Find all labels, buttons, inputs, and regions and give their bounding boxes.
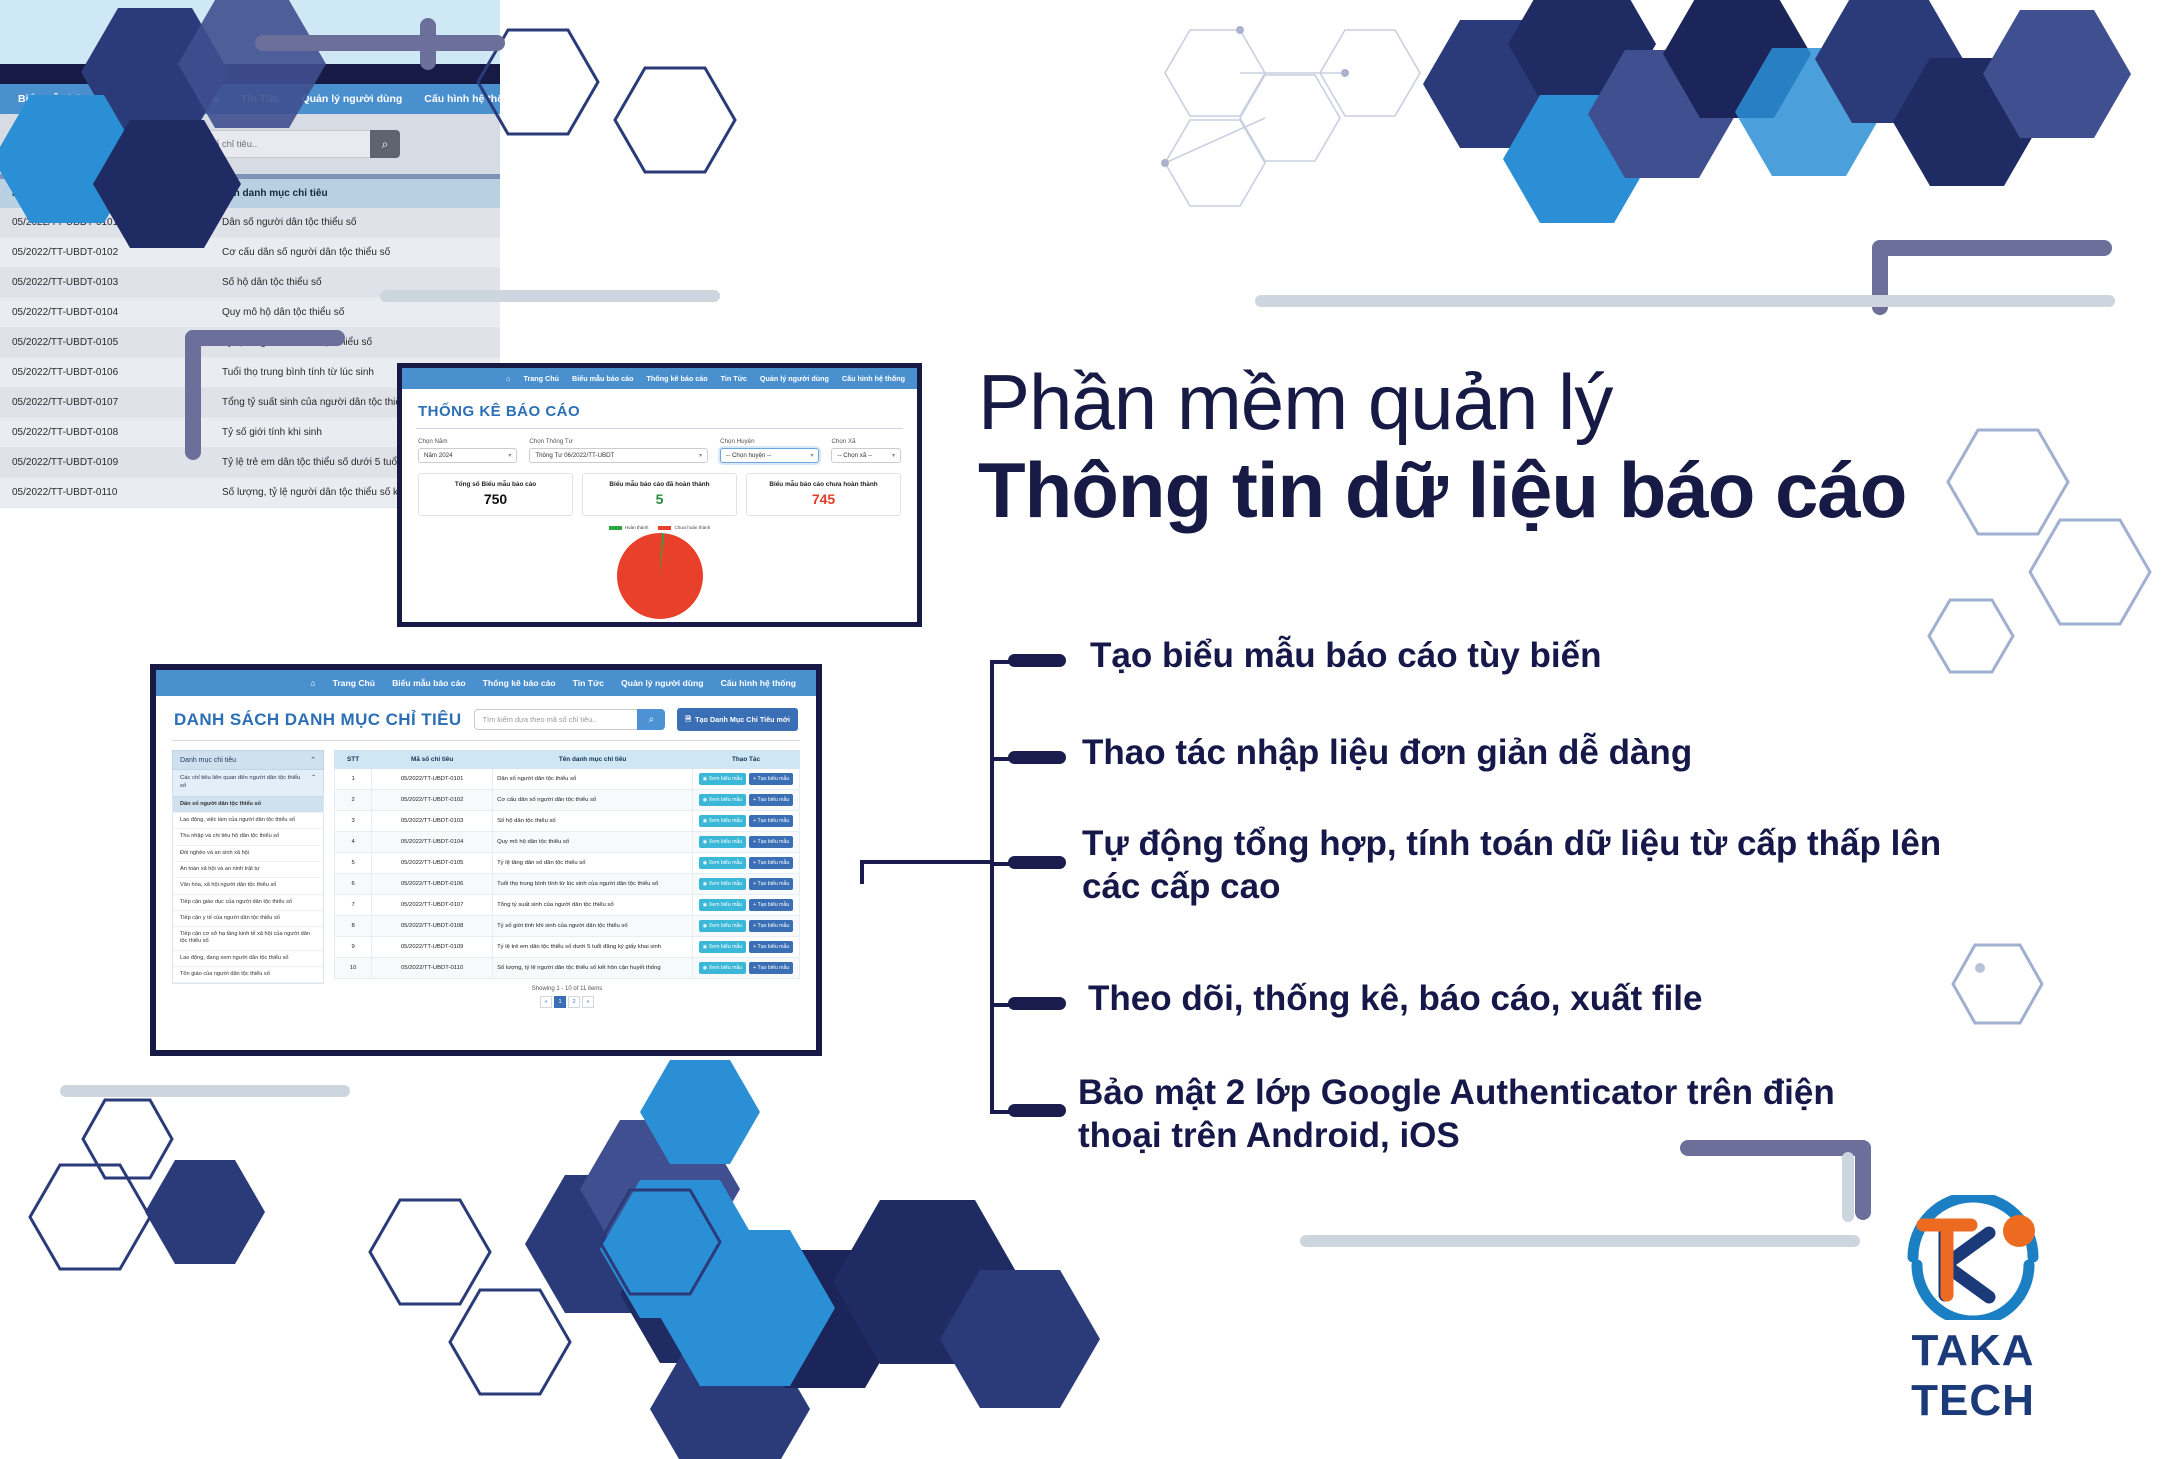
statistics-window-content: ⌂ Trang Chủ Biểu mẫu báo cáo Thống kê bá…: [402, 368, 917, 622]
connector-dash-5: [1008, 1104, 1066, 1117]
cell-code: 05/2022/TT-UBDT-0107: [372, 895, 493, 916]
catalog-sidebar: Danh mục chỉ tiêu ⌃ Các chỉ tiêu liên qu…: [172, 750, 324, 1008]
file-plus-icon: 🗎: [685, 713, 691, 726]
create-template-button[interactable]: + Tạo biểu mẫu: [749, 794, 793, 806]
pie-chart-wrap: [402, 533, 917, 619]
table-row: 405/2022/TT-UBDT-0104Quy mô hộ dân tộc t…: [335, 832, 800, 853]
action-buttons: ◉ Xem biểu mẫu+ Tạo biểu mẫu: [697, 815, 795, 827]
view-template-button[interactable]: ◉ Xem biểu mẫu: [699, 899, 746, 911]
nav-item-bieu-mau[interactable]: Biểu mẫu báo cáo: [18, 93, 108, 105]
connector-dash-4: [1008, 997, 1066, 1010]
pagination-page[interactable]: 1: [554, 996, 566, 1008]
stat-card-pending-value: 745: [751, 491, 896, 507]
create-template-button[interactable]: + Tạo biểu mẫu: [749, 815, 793, 827]
list-item[interactable]: Đói nghèo và an sinh xã hội: [173, 846, 323, 862]
cell-code: 05/2022/TT-UBDT-0109: [0, 448, 210, 478]
list-item[interactable]: Văn hóa, xã hội người dân tộc thiểu số: [173, 878, 323, 894]
table-row: 05/2022/TT-UBDT-0103Số hộ dân tộc thiểu …: [0, 268, 500, 298]
nav-item-quan-ly[interactable]: Quản lý người dùng: [760, 374, 829, 383]
action-buttons: ◉ Xem biểu mẫu+ Tạo biểu mẫu: [697, 962, 795, 974]
cell-code: 05/2022/TT-UBDT-0103: [372, 811, 493, 832]
list-item[interactable]: Tiếp cận y tế của người dân tộc thiểu số: [173, 911, 323, 927]
nav-item-tin-tuc[interactable]: Tin Tức: [573, 678, 604, 688]
cell-name: Dân số người dân tộc thiểu số: [493, 769, 693, 790]
cell-stt: 9: [335, 937, 372, 958]
list-item[interactable]: Tiếp cận cơ sở hạ tầng kinh tế xã hội củ…: [173, 927, 323, 951]
nav-item-tin-tuc[interactable]: Tin Tức: [241, 93, 279, 105]
filter-nam-select[interactable]: Năm 2024 ▾: [418, 448, 517, 463]
catalog-table-body: 105/2022/TT-UBDT-0101Dân số người dân tộ…: [335, 769, 800, 979]
catalog-table-col: STT Mã số chỉ tiêu Tên danh mục chỉ tiêu…: [334, 750, 800, 1008]
cell-stt: 2: [335, 790, 372, 811]
table-row: 805/2022/TT-UBDT-0108Tỷ số giới tính khi…: [335, 916, 800, 937]
cell-code: 05/2022/TT-UBDT-0101: [372, 769, 493, 790]
list-item[interactable]: Lao động, việc làm của người dân tộc thi…: [173, 813, 323, 829]
filter-thong-tu-value: Thông Tư 06/2022/TT-UBDT: [535, 452, 614, 459]
table-row: 105/2022/TT-UBDT-0101Dân số người dân tộ…: [335, 769, 800, 790]
pipe-right-vert: [1872, 240, 1888, 315]
home-icon[interactable]: ⌂: [310, 678, 315, 688]
sidebar-header-label: Danh mục chỉ tiêu: [180, 757, 236, 764]
cell-code: 05/2022/TT-UBDT-0103: [0, 268, 210, 298]
view-template-button[interactable]: ◉ Xem biểu mẫu: [699, 815, 746, 827]
connector-dash-1: [1008, 654, 1066, 667]
cell-name: Tỷ lệ tăng dân số dân tộc thiểu số: [493, 853, 693, 874]
action-buttons: ◉ Xem biểu mẫu+ Tạo biểu mẫu: [697, 794, 795, 806]
cell-name: Quy mô hộ dân tộc thiểu số: [493, 832, 693, 853]
filter-huyen-value: -- Chọn huyện --: [726, 452, 771, 459]
table-row: 305/2022/TT-UBDT-0103Số hộ dân tộc thiểu…: [335, 811, 800, 832]
catalog-body: Danh mục chỉ tiêu ⌃ Các chỉ tiêu liên qu…: [156, 741, 816, 1008]
filter-thong-tu: Chọn Thông Tư Thông Tư 06/2022/TT-UBDT ▾: [529, 438, 708, 463]
background-search-area: Tìm kiếm dựa theo mã số chỉ tiêu.. ⌕: [0, 114, 500, 174]
cell-actions: ◉ Xem biểu mẫu+ Tạo biểu mẫu: [693, 769, 800, 790]
table-row: 05/2022/TT-UBDT-0104Quy mô hộ dân tộc th…: [0, 298, 500, 328]
background-search[interactable]: Tìm kiếm dựa theo mã số chỉ tiêu.. ⌕: [100, 130, 400, 158]
page-headline: Phần mềm quản lý Thông tin dữ liệu báo c…: [978, 358, 2098, 534]
view-template-button[interactable]: ◉ Xem biểu mẫu: [699, 794, 746, 806]
cell-actions: ◉ Xem biểu mẫu+ Tạo biểu mẫu: [693, 832, 800, 853]
cell-code: 05/2022/TT-UBDT-0101: [0, 208, 210, 238]
logo-mark: [1893, 1195, 2053, 1320]
create-template-button[interactable]: + Tạo biểu mẫu: [749, 899, 793, 911]
feature-item-2: Thao tác nhập liệu đơn giản dễ dàng: [1082, 732, 1982, 775]
list-item[interactable]: Thu nhập và chi tiêu hộ dân tộc thiểu số: [173, 829, 323, 845]
table-row: 505/2022/TT-UBDT-0105Tỷ lệ tăng dân số d…: [335, 853, 800, 874]
catalog-browser-window: ⌂ Trang Chủ Biểu mẫu báo cáo Thống kê bá…: [150, 664, 822, 1056]
cell-stt: 3: [335, 811, 372, 832]
col-ten-danh-muc: Tên danh mục chỉ tiêu: [210, 179, 500, 208]
view-template-button[interactable]: ◉ Xem biểu mẫu: [699, 773, 746, 785]
statistics-browser-window: ⌂ Trang Chủ Biểu mẫu báo cáo Thống kê bá…: [397, 363, 922, 627]
stat-card-total-value: 750: [423, 491, 568, 507]
nav-item-bieu-mau[interactable]: Biểu mẫu báo cáo: [392, 678, 466, 688]
view-template-button[interactable]: ◉ Xem biểu mẫu: [699, 878, 746, 890]
cell-stt: 10: [335, 958, 372, 979]
action-buttons: ◉ Xem biểu mẫu+ Tạo biểu mẫu: [697, 836, 795, 848]
view-template-button[interactable]: ◉ Xem biểu mẫu: [699, 920, 746, 932]
nav-item-thong-ke[interactable]: Thống kê báo cáo: [647, 374, 708, 383]
background-navbar[interactable]: Biểu mẫu báo cáo Thống kê báo cáo Tin Tứ…: [0, 84, 500, 114]
headline-line-2: Thông tin dữ liệu báo cáo: [978, 446, 2098, 534]
catalog-header: DANH SÁCH DANH MỤC CHỈ TIÊU Tìm kiếm dựa…: [156, 696, 816, 731]
cell-code: 05/2022/TT-UBDT-0105: [372, 853, 493, 874]
cell-name: Tỷ số giới tính khi sinh của người dân t…: [493, 916, 693, 937]
filter-xa: Chọn Xã -- Chọn xã -- ▾: [831, 438, 901, 463]
feature-item-5: Bảo mật 2 lớp Google Authenticator trên …: [1078, 1072, 1878, 1157]
legend-swatch-done: [609, 526, 622, 530]
home-icon[interactable]: ⌂: [506, 374, 510, 383]
table-row: 905/2022/TT-UBDT-0109Tỷ lệ trẻ em dân tộ…: [335, 937, 800, 958]
col-ten: Tên danh mục chỉ tiêu: [493, 751, 693, 769]
pagination-info: Showing 1 - 10 of 11 items: [334, 986, 800, 992]
list-item[interactable]: Dân số người dân tộc thiểu số: [173, 797, 323, 813]
nav-item-cau-hinh[interactable]: Cấu hình hệ thống: [424, 93, 516, 105]
background-search-input[interactable]: Tìm kiếm dựa theo mã số chỉ tiêu..: [100, 130, 370, 158]
cell-code: 05/2022/TT-UBDT-0104: [372, 832, 493, 853]
nav-item-cau-hinh[interactable]: Cấu hình hệ thống: [721, 678, 796, 688]
pagination-pages[interactable]: «12»: [540, 996, 594, 1008]
filter-huyen-label: Chọn Huyện: [720, 438, 819, 445]
filter-nam-label: Chọn Năm: [418, 438, 517, 445]
cell-actions: ◉ Xem biểu mẫu+ Tạo biểu mẫu: [693, 853, 800, 874]
view-template-button[interactable]: ◉ Xem biểu mẫu: [699, 962, 746, 974]
cell-name: Tuổi thọ trung bình tính từ lúc sinh của…: [493, 874, 693, 895]
catalog-window-content: ⌂ Trang Chủ Biểu mẫu báo cáo Thống kê bá…: [156, 670, 816, 1050]
filter-xa-value: -- Chọn xã --: [837, 452, 872, 459]
list-item[interactable]: Tôn giáo của người dân tộc thiểu số: [173, 967, 323, 983]
stat-card-done-label: Biểu mẫu báo cáo đã hoàn thành: [587, 481, 732, 488]
pipe-light-4: [60, 1085, 350, 1097]
page-title: THỐNG KÊ BÁO CÁO: [418, 403, 917, 420]
chevron-down-icon: ▾: [810, 452, 813, 459]
cell-code: 05/2022/TT-UBDT-0109: [372, 937, 493, 958]
cell-stt: 1: [335, 769, 372, 790]
cell-code: 05/2022/TT-UBDT-0110: [0, 478, 210, 508]
chevron-up-icon[interactable]: ⌃: [310, 756, 316, 764]
cell-name: Tỷ lệ tăng dân số dân tộc thiểu số: [210, 328, 500, 358]
action-buttons: ◉ Xem biểu mẫu+ Tạo biểu mẫu: [697, 878, 795, 890]
connector-left-stub-vert: [860, 860, 864, 884]
cell-stt: 5: [335, 853, 372, 874]
sidebar-item-list: Dân số người dân tộc thiểu sốLao động, v…: [172, 797, 324, 984]
nav-item-cau-hinh[interactable]: Cấu hình hệ thống: [842, 374, 905, 383]
nav-item-tin-tuc[interactable]: Tin Tức: [721, 374, 747, 383]
create-template-button[interactable]: + Tạo biểu mẫu: [749, 962, 793, 974]
table-row: 1005/2022/TT-UBDT-0110Số lượng, tỷ lệ ng…: [335, 958, 800, 979]
filter-nam-value: Năm 2024: [424, 452, 453, 459]
catalog-navbar[interactable]: ⌂ Trang Chủ Biểu mẫu báo cáo Thống kê bá…: [156, 670, 816, 696]
col-ma-so: Mã số chỉ tiêu: [372, 751, 493, 769]
cell-code: 05/2022/TT-UBDT-0108: [372, 916, 493, 937]
cell-stt: 6: [335, 874, 372, 895]
col-thao-tac: Thao Tác: [693, 751, 800, 769]
feature-item-1: Tạo biểu mẫu báo cáo tùy biến: [1090, 635, 1990, 678]
headline-line-1: Phần mềm quản lý: [978, 358, 1612, 446]
table-row: 05/2022/TT-UBDT-0105Tỷ lệ tăng dân số dâ…: [0, 328, 500, 358]
create-template-button[interactable]: + Tạo biểu mẫu: [749, 773, 793, 785]
taka-tech-logo-icon: [1893, 1195, 2053, 1320]
col-ma-so: Mã số chỉ tiêu: [0, 179, 210, 208]
list-item[interactable]: Lao động, đang xem người dân tộc thiểu s…: [173, 951, 323, 967]
filter-thong-tu-select[interactable]: Thông Tư 06/2022/TT-UBDT ▾: [529, 448, 708, 463]
pipe-light-3: [1300, 1235, 1860, 1247]
create-template-button[interactable]: + Tạo biểu mẫu: [749, 878, 793, 890]
chevron-up-icon[interactable]: ⌃: [311, 775, 316, 791]
action-buttons: ◉ Xem biểu mẫu+ Tạo biểu mẫu: [697, 920, 795, 932]
action-buttons: ◉ Xem biểu mẫu+ Tạo biểu mẫu: [697, 857, 795, 869]
hex-cluster-top-right: [1161, 0, 2131, 223]
col-stt: STT: [335, 751, 372, 769]
filter-thong-tu-label: Chọn Thông Tư: [529, 438, 708, 445]
catalog-table: STT Mã số chỉ tiêu Tên danh mục chỉ tiêu…: [334, 750, 800, 979]
connector-dash-2: [1008, 751, 1066, 764]
list-item[interactable]: An toàn xã hội và an ninh trật tự: [173, 862, 323, 878]
background-window-titlebar: [0, 64, 500, 84]
cell-name: Tổng tỷ suất sinh của người dân tộc thiể…: [493, 895, 693, 916]
nav-item-quan-ly[interactable]: Quản lý người dùng: [621, 678, 704, 688]
pagination-page[interactable]: »: [582, 996, 594, 1008]
connector-dash-3: [1008, 856, 1066, 869]
cell-name: Số hộ dân tộc thiểu số: [493, 811, 693, 832]
cell-code: 05/2022/TT-UBDT-0110: [372, 958, 493, 979]
filter-xa-label: Chọn Xã: [831, 438, 901, 445]
cell-name: Dân số người dân tộc thiểu số: [210, 208, 500, 238]
table-row: 705/2022/TT-UBDT-0107Tổng tỷ suất sinh c…: [335, 895, 800, 916]
create-template-button[interactable]: + Tạo biểu mẫu: [749, 920, 793, 932]
create-template-button[interactable]: + Tạo biểu mẫu: [749, 857, 793, 869]
legend-label-pending: Chưa hoàn thành: [674, 525, 710, 530]
cell-name: Tỷ lệ trẻ em dân tộc thiểu số dưới 5 tuổ…: [493, 937, 693, 958]
stat-card-pending: Biểu mẫu báo cáo chưa hoàn thành 745: [746, 473, 901, 516]
pagination: Showing 1 - 10 of 11 items «12»: [334, 986, 800, 1008]
action-buttons: ◉ Xem biểu mẫu+ Tạo biểu mẫu: [697, 899, 795, 911]
list-item[interactable]: Tiếp cận giáo dục của người dân tộc thiể…: [173, 895, 323, 911]
sidebar-group[interactable]: Các chỉ tiêu liên quan đến người dân tộc…: [172, 770, 324, 797]
connector-left-stub: [860, 860, 994, 864]
catalog-table-header: STT Mã số chỉ tiêu Tên danh mục chỉ tiêu…: [335, 751, 800, 769]
legend-swatch-pending: [658, 526, 671, 530]
cell-code: 05/2022/TT-UBDT-0102: [0, 238, 210, 268]
chevron-down-icon: ▾: [699, 452, 702, 459]
cell-actions: ◉ Xem biểu mẫu+ Tạo biểu mẫu: [693, 937, 800, 958]
stat-cards-row: Tổng số Biểu mẫu báo cáo 750 Biểu mẫu bá…: [402, 463, 917, 516]
filter-huyen: Chọn Huyện -- Chọn huyện -- ▾: [720, 438, 819, 463]
pipe-right-horz: [1872, 240, 2112, 256]
stat-card-pending-label: Biểu mẫu báo cáo chưa hoàn thành: [751, 481, 896, 488]
pie-chart: [617, 533, 703, 619]
nav-item-trang-chu[interactable]: Trang Chủ: [523, 374, 559, 383]
filter-huyen-select[interactable]: -- Chọn huyện -- ▾: [720, 448, 819, 463]
cell-actions: ◉ Xem biểu mẫu+ Tạo biểu mẫu: [693, 895, 800, 916]
cell-code: 05/2022/TT-UBDT-0107: [0, 388, 210, 418]
chevron-down-icon: ▾: [892, 452, 895, 459]
background-table-header: Mã số chỉ tiêu Tên danh mục chỉ tiêu: [0, 179, 500, 208]
chevron-down-icon: ▾: [508, 452, 511, 459]
cell-name: Số hộ dân tộc thiểu số: [210, 268, 500, 298]
nav-item-thong-ke[interactable]: Thống kê báo cáo: [130, 93, 219, 105]
cell-actions: ◉ Xem biểu mẫu+ Tạo biểu mẫu: [693, 916, 800, 937]
cell-name: Quy mô hộ dân tộc thiểu số: [210, 298, 500, 328]
table-row: 205/2022/TT-UBDT-0102Cơ cấu dân số người…: [335, 790, 800, 811]
table-row: 05/2022/TT-UBDT-0102Cơ cấu dân số người …: [0, 238, 500, 268]
filter-row: Chọn Năm Năm 2024 ▾ Chọn Thông Tư Thông …: [402, 429, 917, 463]
pipe-light-2: [1255, 295, 2115, 307]
cell-stt: 4: [335, 832, 372, 853]
legend-label-done: Hoàn thành: [625, 525, 649, 530]
stat-card-done-value: 5: [587, 491, 732, 507]
nav-item-thong-ke[interactable]: Thống kê báo cáo: [483, 678, 556, 688]
cell-actions: ◉ Xem biểu mẫu+ Tạo biểu mẫu: [693, 958, 800, 979]
cell-code: 05/2022/TT-UBDT-0105: [0, 328, 210, 358]
chart-legend: Hoàn thành Chưa hoàn thành: [402, 525, 917, 530]
legend-item-pending: Chưa hoàn thành: [658, 525, 710, 530]
nav-item-quan-ly[interactable]: Quản lý người dùng: [301, 93, 402, 105]
sidebar-header[interactable]: Danh mục chỉ tiêu ⌃: [172, 750, 324, 770]
cell-actions: ◉ Xem biểu mẫu+ Tạo biểu mẫu: [693, 874, 800, 895]
cell-code: 05/2022/TT-UBDT-0104: [0, 298, 210, 328]
stat-card-done: Biểu mẫu báo cáo đã hoàn thành 5: [582, 473, 737, 516]
search-icon[interactable]: ⌕: [637, 709, 665, 730]
search-icon[interactable]: ⌕: [370, 130, 400, 158]
catalog-search[interactable]: Tìm kiếm dựa theo mã số chỉ tiêu.. ⌕: [474, 709, 666, 730]
table-row: 605/2022/TT-UBDT-0106Tuổi thọ trung bình…: [335, 874, 800, 895]
cell-code: 05/2022/TT-UBDT-0106: [372, 874, 493, 895]
view-template-button[interactable]: ◉ Xem biểu mẫu: [699, 857, 746, 869]
background-window-topband: [0, 0, 500, 64]
cell-name: Cơ cấu dân số người dân tộc thiểu số: [493, 790, 693, 811]
pagination-page[interactable]: 2: [568, 996, 580, 1008]
create-template-button[interactable]: + Tạo biểu mẫu: [749, 836, 793, 848]
filter-xa-select[interactable]: -- Chọn xã -- ▾: [831, 448, 901, 463]
cell-stt: 7: [335, 895, 372, 916]
action-buttons: ◉ Xem biểu mẫu+ Tạo biểu mẫu: [697, 941, 795, 953]
cell-name: Số lượng, tỷ lệ người dân tộc thiểu số k…: [493, 958, 693, 979]
legend-item-done: Hoàn thành: [609, 525, 649, 530]
cell-actions: ◉ Xem biểu mẫu+ Tạo biểu mẫu: [693, 790, 800, 811]
nav-item-bieu-mau[interactable]: Biểu mẫu báo cáo: [572, 374, 634, 383]
view-template-button[interactable]: ◉ Xem biểu mẫu: [699, 836, 746, 848]
brand-name: TAKA TECH: [1858, 1326, 2088, 1426]
pipe-light-5: [1842, 1152, 1854, 1222]
cell-actions: ◉ Xem biểu mẫu+ Tạo biểu mẫu: [693, 811, 800, 832]
cell-code: 05/2022/TT-UBDT-0106: [0, 358, 210, 388]
feature-item-4: Theo dõi, thống kê, báo cáo, xuất file: [1088, 978, 1988, 1021]
hex-cluster-bottom: [30, 1060, 1100, 1459]
page-title: DANH SÁCH DANH MỤC CHỈ TIÊU: [174, 710, 462, 730]
stat-card-total-label: Tổng số Biểu mẫu báo cáo: [423, 481, 568, 488]
create-template-button[interactable]: + Tạo biểu mẫu: [749, 941, 793, 953]
stat-card-total: Tổng số Biểu mẫu báo cáo 750: [418, 473, 573, 516]
filter-nam: Chọn Năm Năm 2024 ▾: [418, 438, 517, 463]
search-input[interactable]: Tìm kiếm dựa theo mã số chỉ tiêu..: [474, 709, 638, 730]
table-row: 05/2022/TT-UBDT-0101Dân số người dân tộc…: [0, 208, 500, 238]
brand-logo: TAKA TECH: [1858, 1195, 2088, 1426]
cell-name: Cơ cấu dân số người dân tộc thiểu số: [210, 238, 500, 268]
pagination-page[interactable]: «: [540, 996, 552, 1008]
connector-spine: [990, 660, 994, 1110]
cell-code: 05/2022/TT-UBDT-0108: [0, 418, 210, 448]
cell-stt: 8: [335, 916, 372, 937]
nav-item-trang-chu[interactable]: Trang Chủ: [333, 678, 376, 688]
cell-code: 05/2022/TT-UBDT-0102: [372, 790, 493, 811]
create-catalog-button[interactable]: 🗎 Tạo Danh Mục Chỉ Tiêu mới: [677, 708, 798, 731]
action-buttons: ◉ Xem biểu mẫu+ Tạo biểu mẫu: [697, 773, 795, 785]
view-template-button[interactable]: ◉ Xem biểu mẫu: [699, 941, 746, 953]
statistics-navbar[interactable]: ⌂ Trang Chủ Biểu mẫu báo cáo Thống kê bá…: [402, 368, 917, 389]
feature-item-3: Tự động tổng hợp, tính toán dữ liệu từ c…: [1082, 823, 1952, 908]
create-catalog-label: Tạo Danh Mục Chỉ Tiêu mới: [695, 715, 790, 724]
sidebar-group-label: Các chỉ tiêu liên quan đến người dân tộc…: [180, 775, 307, 791]
